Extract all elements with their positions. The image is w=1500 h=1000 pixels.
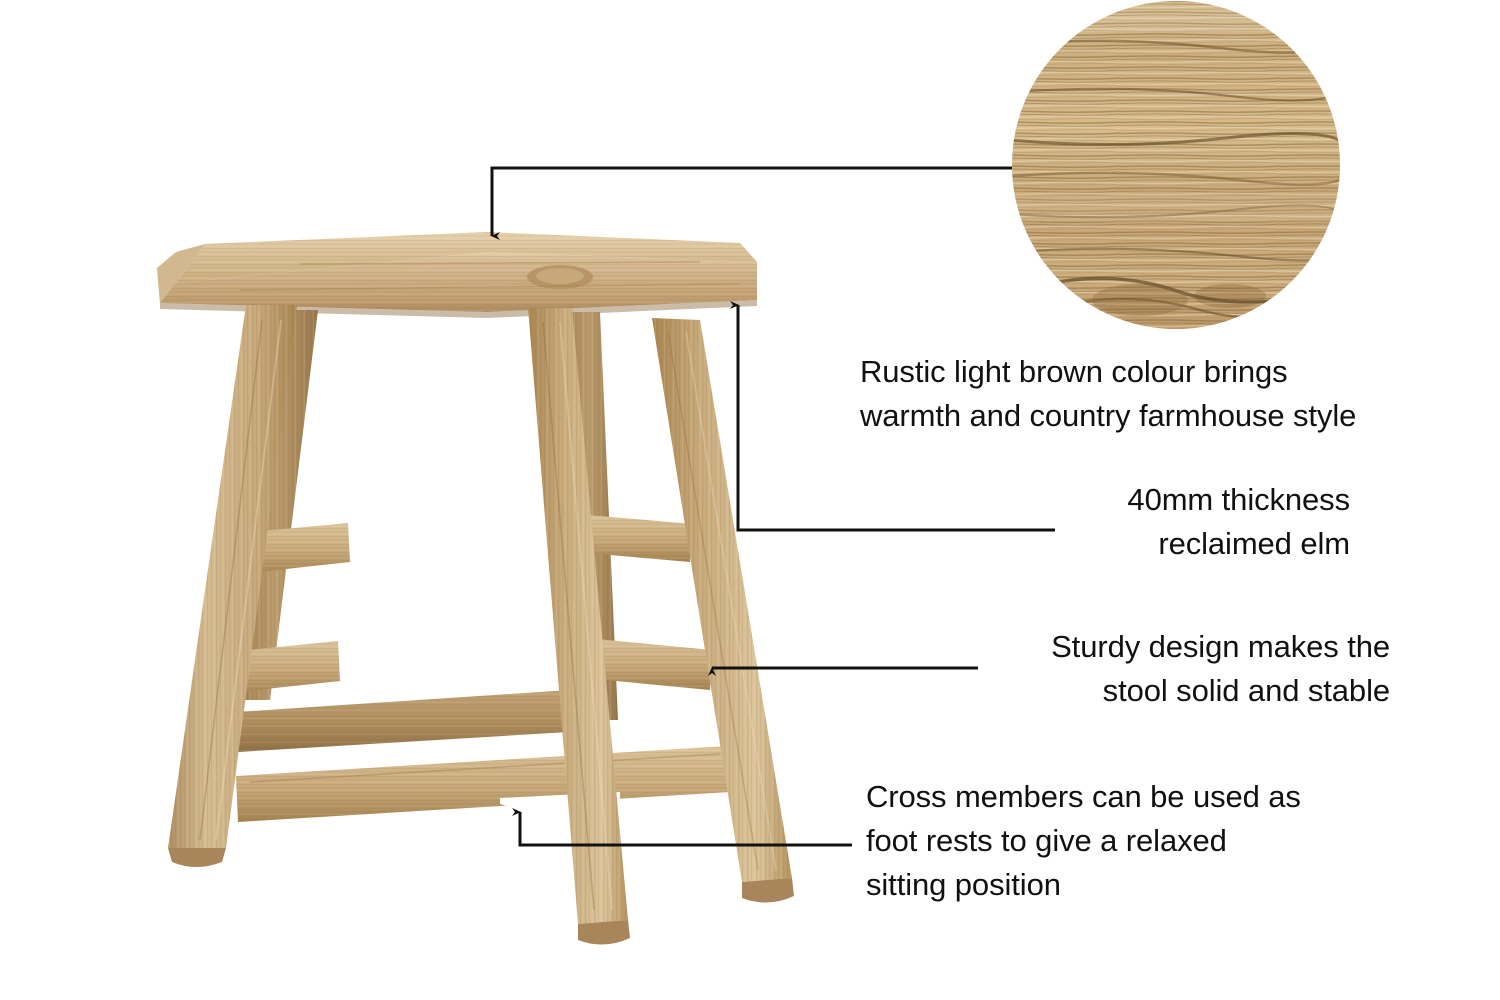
wood-grain-closeup-circle (0, 0, 1500, 1000)
infographic-canvas: Rustic light brown colour brings warmth … (0, 0, 1500, 1000)
wood-grain-texture (1010, 0, 1350, 340)
